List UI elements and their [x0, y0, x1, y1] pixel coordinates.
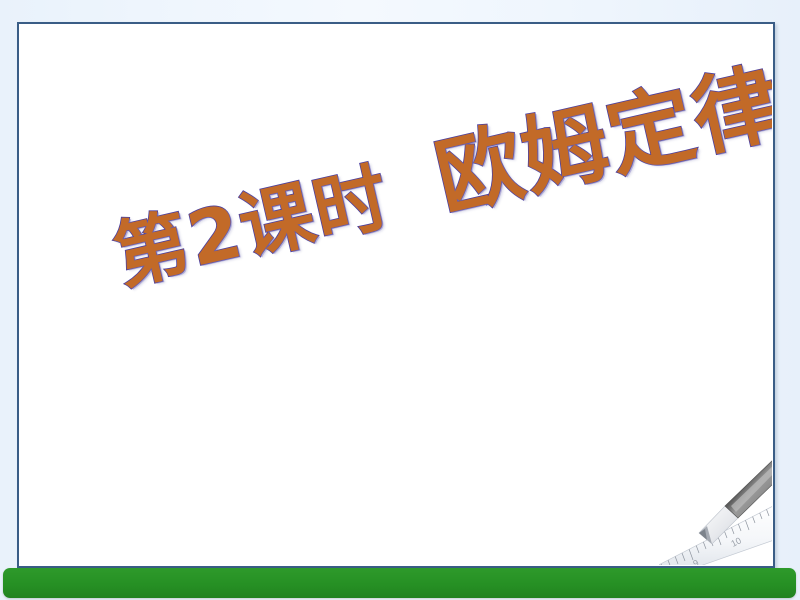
- title-spacer: [394, 209, 445, 221]
- ruler-tick-label-9: 9: [691, 558, 700, 568]
- ruler-shape: 9 10: [659, 504, 775, 568]
- slide-background: 第2课时 欧姆定律: [0, 0, 800, 600]
- slide-page: 第2课时 欧姆定律: [17, 22, 775, 568]
- pencil-ruler-decoration-icon: 9 10: [659, 460, 775, 568]
- footer-bar: [3, 568, 796, 598]
- title-topic-part: 欧姆定律: [428, 60, 775, 223]
- title-lesson-part: 第2课时: [108, 160, 397, 295]
- ruler-tick-label-10: 10: [729, 535, 742, 548]
- slide-title-wordart: 第2课时 欧姆定律: [105, 60, 775, 297]
- pencil-shape: [699, 460, 775, 544]
